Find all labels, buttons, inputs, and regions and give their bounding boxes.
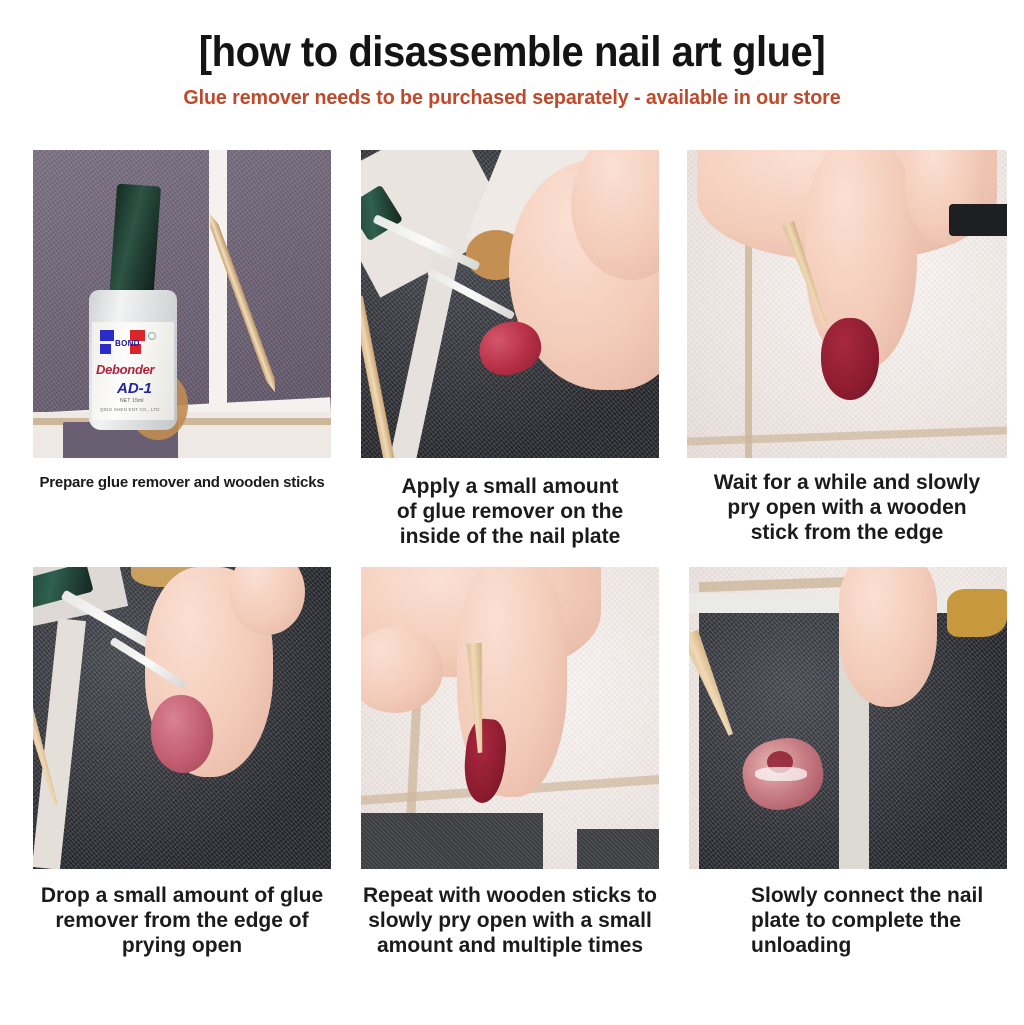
bottle-cap [109,184,161,305]
page-header: [how to disassemble nail art glue] Glue … [0,0,1024,110]
steps-row-top: BOND Debonder AD-1 NET 15ml QING SHEN EN… [0,150,1024,550]
step-card-6: Slowly connect the nail plate to complet… [689,567,1007,959]
finger [839,567,937,707]
step-card-3: Wait for a while and slowly pry open wit… [687,150,1007,546]
step-image-2 [361,150,659,458]
bottle-brand-text: BOND [115,339,140,348]
step-card-2: Apply a small amount of glue remover on … [361,150,659,550]
step-image-6 [689,567,1007,869]
step-image-1: BOND Debonder AD-1 NET 15ml QING SHEN EN… [33,150,331,458]
step-image-4 [33,567,331,869]
bottle-label: BOND Debonder AD-1 NET 15ml QING SHEN EN… [92,322,174,420]
step-image-3 [687,150,1007,458]
step-caption-6: Slowly connect the nail plate to complet… [689,883,1007,959]
step-caption-4: Drop a small amount of glue remover from… [33,883,331,959]
step-card-4: Drop a small amount of glue remover from… [33,567,331,959]
step-card-5: Repeat with wooden sticks to slowly pry … [361,567,659,959]
steps-row-bottom: Drop a small amount of glue remover from… [0,567,1024,959]
step-card-1: BOND Debonder AD-1 NET 15ml QING SHEN EN… [33,150,331,492]
page-subtitle: Glue remover needs to be purchased separ… [20,75,1003,110]
step-image-5 [361,567,659,869]
bottle-code-text: AD-1 [117,380,152,397]
page-title: [how to disassemble nail art glue] [36,0,988,75]
steps-grid: BOND Debonder AD-1 NET 15ml QING SHEN EN… [0,150,1024,958]
step-caption-1: Prepare glue remover and wooden sticks [33,474,331,492]
bottle-net-text: NET 15ml [120,398,144,404]
step-caption-5: Repeat with wooden sticks to slowly pry … [361,883,659,959]
bottle-product-text: Debonder [96,362,154,377]
step-caption-3: Wait for a while and slowly pry open wit… [687,470,1007,546]
bottle-company-text: QING SHEN ENT CO., LTD [100,407,160,412]
step-caption-2: Apply a small amount of glue remover on … [361,474,659,550]
nail [821,318,879,400]
